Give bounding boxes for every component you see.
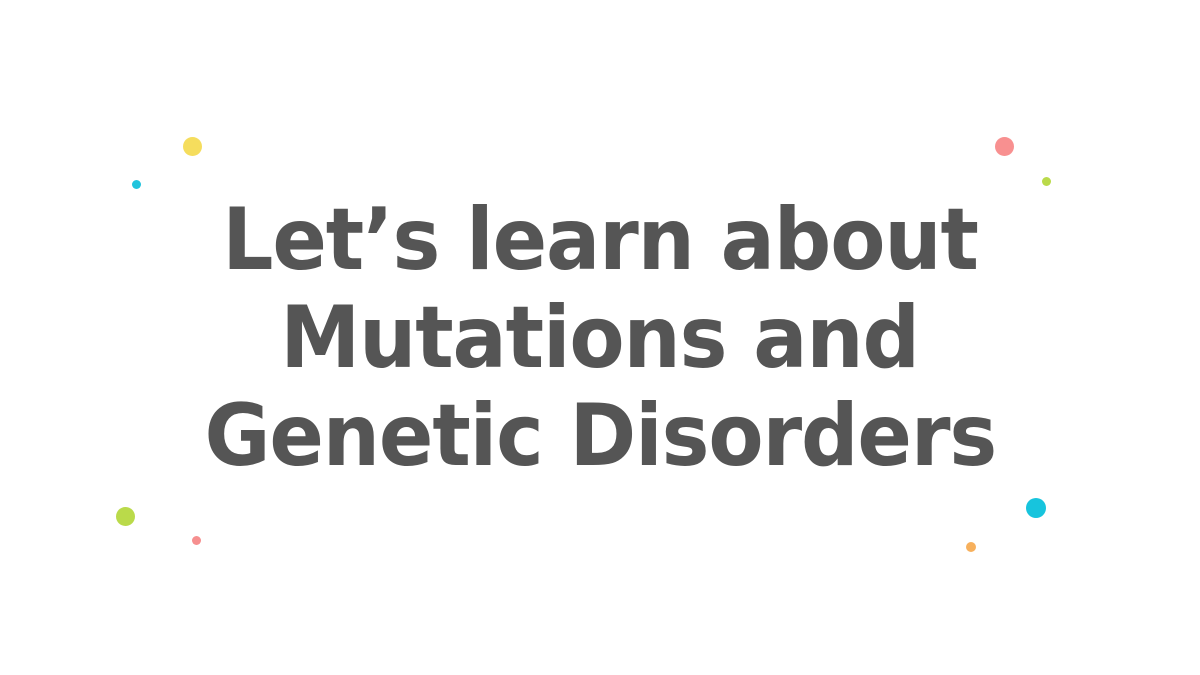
title-line-3: Genetic Disorders <box>204 387 996 485</box>
title-line-1: Let’s learn about <box>222 191 978 289</box>
slide-title-block: Let’s learn about Mutations and Genetic … <box>0 0 1200 675</box>
title-line-2: Mutations and <box>281 289 920 387</box>
slide-canvas: Let’s learn about Mutations and Genetic … <box>0 0 1200 675</box>
